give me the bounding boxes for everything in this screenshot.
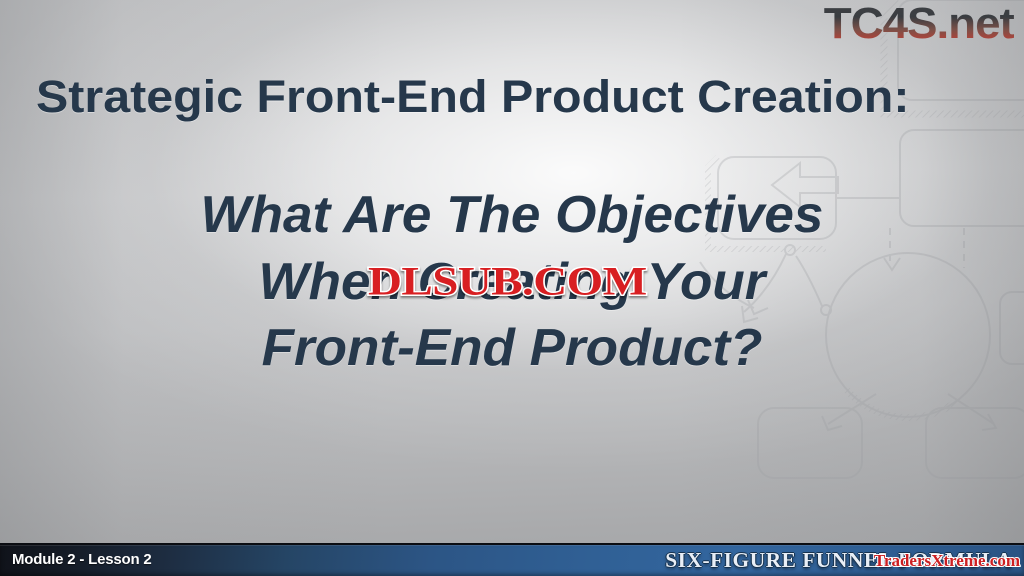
subtitle-line-3: Front-End Product? bbox=[0, 315, 1024, 382]
page-title: Strategic Front-End Product Creation: bbox=[36, 74, 1024, 120]
watermark-tradersxtreme: TradersXtreme.com bbox=[874, 552, 1020, 569]
watermark-dlsub: DLSUB.COM bbox=[368, 262, 647, 302]
footer-bar: Module 2 - Lesson 2 SIX-FIGURE FUNNEL FO… bbox=[0, 543, 1024, 576]
watermark-tc4s: TC4S.net bbox=[824, 2, 1014, 46]
slide-canvas: TC4S.net Strategic Front-End Product Cre… bbox=[0, 0, 1024, 576]
module-lesson-label: Module 2 - Lesson 2 bbox=[12, 551, 152, 568]
watermark-dlsub-text: DLSUB.COM bbox=[368, 260, 647, 304]
subtitle-line-1: What Are The Objectives bbox=[0, 182, 1024, 249]
